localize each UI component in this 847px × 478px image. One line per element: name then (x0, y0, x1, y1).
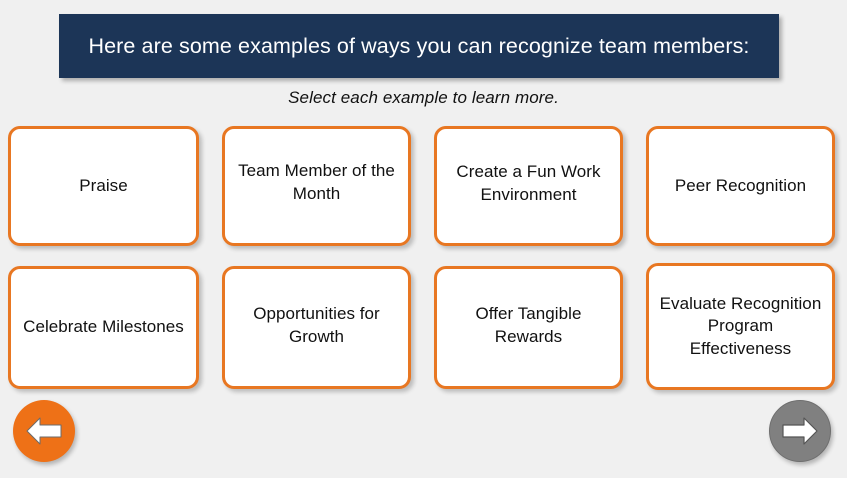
arrow-left-icon (25, 414, 63, 448)
example-card-celebrate-milestones[interactable]: Celebrate Milestones (8, 266, 199, 389)
header-banner: Here are some examples of ways you can r… (59, 14, 779, 78)
example-card-evaluate-recognition-program-effectiveness[interactable]: Evaluate Recognition Program Effectivene… (646, 263, 835, 390)
example-card-offer-tangible-rewards[interactable]: Offer Tangible Rewards (434, 266, 623, 389)
next-button[interactable] (769, 400, 831, 462)
slide-canvas: Here are some examples of ways you can r… (0, 0, 847, 478)
example-card-create-a-fun-work-environment[interactable]: Create a Fun Work Environment (434, 126, 623, 246)
instruction-text: Select each example to learn more. (0, 88, 847, 108)
card-label: Celebrate Milestones (23, 316, 184, 339)
card-label: Peer Recognition (675, 175, 806, 198)
card-label: Opportunities for Growth (233, 303, 400, 348)
arrow-right-icon (781, 414, 819, 448)
card-label: Create a Fun Work Environment (445, 161, 612, 206)
previous-button[interactable] (13, 400, 75, 462)
example-card-opportunities-for-growth[interactable]: Opportunities for Growth (222, 266, 411, 389)
example-card-peer-recognition[interactable]: Peer Recognition (646, 126, 835, 246)
card-label: Praise (79, 175, 128, 198)
card-label: Evaluate Recognition Program Effectivene… (657, 293, 824, 361)
example-card-team-member-of-the-month[interactable]: Team Member of the Month (222, 126, 411, 246)
card-label: Offer Tangible Rewards (445, 303, 612, 348)
example-card-praise[interactable]: Praise (8, 126, 199, 246)
card-label: Team Member of the Month (233, 160, 400, 205)
page-title: Here are some examples of ways you can r… (88, 34, 749, 59)
